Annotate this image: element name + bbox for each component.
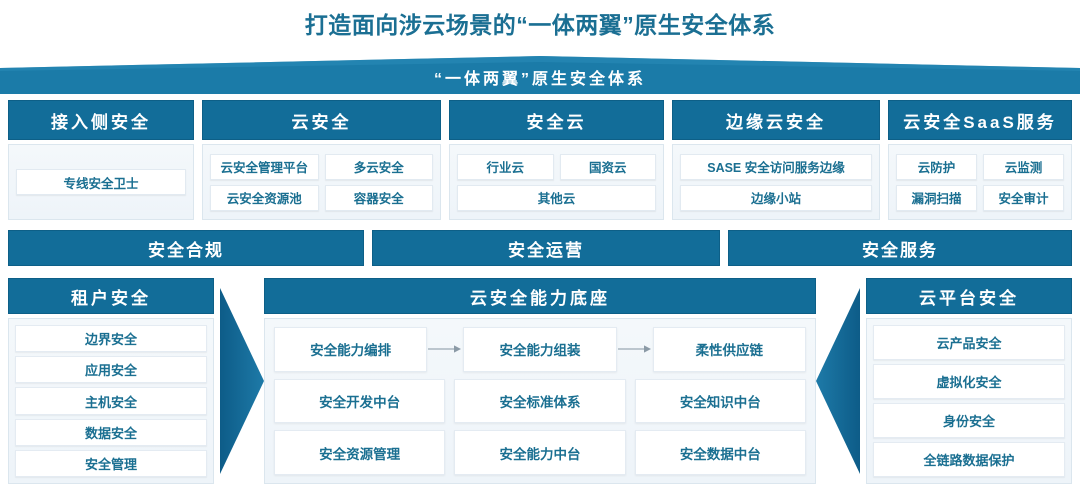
- top-column-body: SASE 安全访问服务边缘 边缘小站: [672, 144, 880, 220]
- panel-body: 云产品安全 虚拟化安全 身份安全 全链路数据保护: [866, 318, 1072, 484]
- chip-row: 漏洞扫描 安全审计: [896, 185, 1064, 211]
- chip-row: 行业云 国资云: [457, 154, 656, 180]
- chip-item[interactable]: 漏洞扫描: [896, 185, 977, 211]
- capability-row: 安全开发中台 安全标准体系 安全知识中台: [274, 379, 806, 424]
- capability-cell[interactable]: 安全数据中台: [635, 430, 806, 475]
- chip-item[interactable]: 云防护: [896, 154, 977, 180]
- arrow-right-icon: [427, 327, 463, 372]
- list-item[interactable]: 身份安全: [873, 403, 1065, 438]
- middle-bars-row: 安全合规 安全运营 安全服务: [8, 230, 1072, 266]
- panel-cloud-platform-security: 云平台安全 云产品安全 虚拟化安全 身份安全 全链路数据保护: [866, 278, 1072, 484]
- chip-row: SASE 安全访问服务边缘: [680, 154, 872, 180]
- list-item[interactable]: 主机安全: [15, 387, 207, 414]
- panel-header: 云平台安全: [866, 278, 1072, 314]
- panel-header: 租户安全: [8, 278, 214, 314]
- capability-row: 安全资源管理 安全能力中台 安全数据中台: [274, 430, 806, 475]
- top-column-body: 行业云 国资云 其他云: [449, 144, 664, 220]
- top-column-edge-cloud-security: 边缘云安全 SASE 安全访问服务边缘 边缘小站: [672, 100, 880, 220]
- top-column-header: 云安全SaaS服务: [888, 100, 1072, 140]
- chip-item[interactable]: 专线安全卫士: [16, 169, 186, 195]
- banner: “一体两翼”原生安全体系: [0, 54, 1080, 94]
- chip-item[interactable]: 安全审计: [983, 185, 1064, 211]
- chip-item[interactable]: 多云安全: [325, 154, 434, 180]
- chip-item[interactable]: 云安全资源池: [210, 185, 319, 211]
- list-item[interactable]: 数据安全: [15, 419, 207, 446]
- list-item[interactable]: 虚拟化安全: [873, 364, 1065, 399]
- chip-item[interactable]: 其他云: [457, 185, 656, 211]
- list-item[interactable]: 全链路数据保护: [873, 442, 1065, 477]
- chip-row: 云安全管理平台 多云安全: [210, 154, 433, 180]
- list-item[interactable]: 边界安全: [15, 325, 207, 352]
- top-column-access-security: 接入侧安全 专线安全卫士: [8, 100, 194, 220]
- panel-header: 云安全能力底座: [264, 278, 816, 314]
- middle-bar-compliance[interactable]: 安全合规: [8, 230, 364, 266]
- panel-tenant-security: 租户安全 边界安全 应用安全 主机安全 数据安全 安全管理: [8, 278, 214, 484]
- chip-item[interactable]: 云监测: [983, 154, 1064, 180]
- capability-cell[interactable]: 安全能力编排: [274, 327, 427, 372]
- middle-bar-services[interactable]: 安全服务: [728, 230, 1072, 266]
- top-column-header: 安全云: [449, 100, 664, 140]
- top-columns-row: 接入侧安全 专线安全卫士 云安全 云安全管理平台 多云安全 云安全资源池 容器安…: [8, 100, 1072, 220]
- capability-cell[interactable]: 柔性供应链: [653, 327, 806, 372]
- top-column-body: 专线安全卫士: [8, 144, 194, 220]
- chip-row: 云防护 云监测: [896, 154, 1064, 180]
- top-column-cloud-security-saas: 云安全SaaS服务 云防护 云监测 漏洞扫描 安全审计: [888, 100, 1072, 220]
- list-item[interactable]: 云产品安全: [873, 325, 1065, 360]
- capability-cell[interactable]: 安全标准体系: [454, 379, 625, 424]
- arrow-left-triangle-icon: [814, 284, 866, 478]
- capability-cell[interactable]: 安全能力中台: [454, 430, 625, 475]
- top-column-header: 云安全: [202, 100, 441, 140]
- top-column-body: 云防护 云监测 漏洞扫描 安全审计: [888, 144, 1072, 220]
- top-column-header: 接入侧安全: [8, 100, 194, 140]
- chip-row: 其他云: [457, 185, 656, 211]
- chip-row: 专线安全卫士: [16, 169, 186, 195]
- top-column-header: 边缘云安全: [672, 100, 880, 140]
- top-column-body: 云安全管理平台 多云安全 云安全资源池 容器安全: [202, 144, 441, 220]
- capability-cell[interactable]: 安全能力组装: [463, 327, 616, 372]
- middle-bar-operations[interactable]: 安全运营: [372, 230, 720, 266]
- chip-item[interactable]: 云安全管理平台: [210, 154, 319, 180]
- top-column-cloud-security: 云安全 云安全管理平台 多云安全 云安全资源池 容器安全: [202, 100, 441, 220]
- capability-cell[interactable]: 安全开发中台: [274, 379, 445, 424]
- bottom-section: 租户安全 边界安全 应用安全 主机安全 数据安全 安全管理 云安全能力底座 安全…: [8, 278, 1072, 484]
- capability-cell[interactable]: 安全知识中台: [635, 379, 806, 424]
- chip-item[interactable]: SASE 安全访问服务边缘: [680, 154, 872, 180]
- banner-label: “一体两翼”原生安全体系: [0, 54, 1080, 94]
- chip-row: 边缘小站: [680, 185, 872, 211]
- list-item[interactable]: 安全管理: [15, 450, 207, 477]
- page-title: 打造面向涉云场景的“一体两翼”原生安全体系: [0, 6, 1080, 40]
- panel-body: 安全能力编排 安全能力组装 柔性供应链 安全开发中台: [264, 318, 816, 484]
- top-column-security-cloud: 安全云 行业云 国资云 其他云: [449, 100, 664, 220]
- capability-row-connected: 安全能力编排 安全能力组装 柔性供应链: [274, 327, 806, 372]
- panel-body: 边界安全 应用安全 主机安全 数据安全 安全管理: [8, 318, 214, 484]
- arrow-right-triangle-icon: [214, 284, 266, 478]
- list-item[interactable]: 应用安全: [15, 356, 207, 383]
- panel-cloud-security-foundation: 云安全能力底座 安全能力编排 安全能力组装 柔性供应链: [264, 278, 816, 484]
- chip-item[interactable]: 国资云: [560, 154, 657, 180]
- chip-item[interactable]: 边缘小站: [680, 185, 872, 211]
- chip-item[interactable]: 容器安全: [325, 185, 434, 211]
- chip-row: 云安全资源池 容器安全: [210, 185, 433, 211]
- arrow-right-icon: [617, 327, 653, 372]
- capability-cell[interactable]: 安全资源管理: [274, 430, 445, 475]
- chip-item[interactable]: 行业云: [457, 154, 554, 180]
